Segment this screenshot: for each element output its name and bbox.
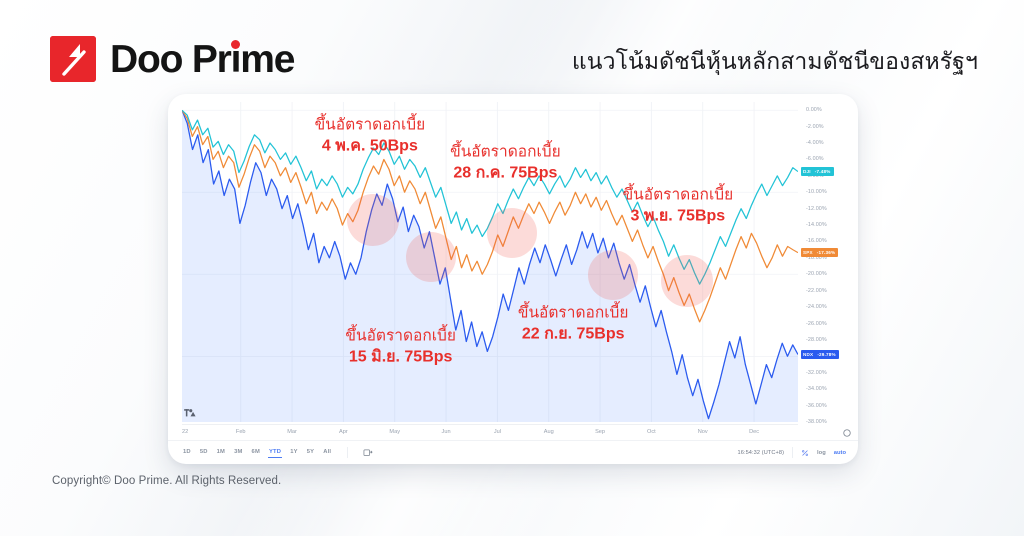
time-tick-label: Oct <box>647 429 656 435</box>
range-button-5y[interactable]: 5Y <box>306 448 316 457</box>
logo-accent-dot <box>231 40 240 49</box>
price-tick-label: -20.00% <box>806 271 827 277</box>
annotation-label: ขึ้นอัตราดอกเบี้ย <box>518 305 629 324</box>
rate-hike-annotation: ขึ้นอัตราดอกเบี้ย4 พ.ค. 50Bps <box>315 116 426 155</box>
price-tick-label: -4.00% <box>806 140 824 146</box>
tradingview-logo <box>184 408 197 418</box>
annotation-value: 3 พ.ย. 75Bps <box>623 206 734 226</box>
price-tick-label: -10.00% <box>806 189 827 195</box>
rate-hike-annotation: ขึ้นอัตราดอกเบี้ย22 ก.ย. 75Bps <box>518 305 629 344</box>
rate-hike-annotation: ขึ้นอัตราดอกเบี้ย3 พ.ย. 75Bps <box>623 186 734 225</box>
toolbar-divider-2 <box>792 447 793 458</box>
auto-scale-button[interactable]: auto <box>834 450 846 456</box>
time-tick-label: Aug <box>544 429 554 435</box>
annotation-label: ขึ้นอัตราดอกเบี้ย <box>623 186 734 205</box>
annotation-label: ขึ้นอัตราดอกเบี้ย <box>450 143 561 162</box>
time-scale[interactable]: 22FebMarAprMayJunJulAugSepOctNovDec <box>182 424 798 440</box>
brand-logo: Doo Prime <box>50 36 294 82</box>
annotation-label: ขึ้นอัตราดอกเบี้ย <box>315 116 426 135</box>
price-tick-label: -12.00% <box>806 206 827 212</box>
annotation-value: 15 มิ.ย. 75Bps <box>345 347 456 367</box>
time-tick-label: Sep <box>595 429 605 435</box>
badge-value: -17.36% <box>817 248 836 257</box>
badge-symbol: DJI <box>803 167 811 176</box>
badge-value: -29.78% <box>817 350 836 359</box>
chart-toolbar[interactable]: 1D5D1M3M6MYTD1Y5YAll 16:54:32 (UTC+8) lo… <box>168 440 858 464</box>
time-tick-label: Nov <box>698 429 708 435</box>
price-tick-label: -16.00% <box>806 238 827 244</box>
price-tick-label: -2.00% <box>806 124 824 130</box>
badge-symbol: NDX <box>803 350 813 359</box>
scale-badge-spx[interactable]: SPX-17.36% <box>801 248 838 257</box>
brand-name: Doo Prime <box>110 40 294 79</box>
price-tick-label: -34.00% <box>806 386 827 392</box>
rate-hike-annotation: ขึ้นอัตราดอกเบี้ย15 มิ.ย. 75Bps <box>345 327 456 366</box>
range-button-5d[interactable]: 5D <box>199 448 209 457</box>
range-button-1d[interactable]: 1D <box>182 448 192 457</box>
price-tick-label: -6.00% <box>806 156 824 162</box>
range-button-all[interactable]: All <box>322 448 332 457</box>
badge-symbol: SPX <box>803 248 813 257</box>
log-scale-button[interactable]: log <box>817 450 826 456</box>
doo-prime-flag-icon <box>50 36 96 82</box>
range-button-1y[interactable]: 1Y <box>289 448 299 457</box>
time-tick-label: Dec <box>749 429 759 435</box>
reset-scale-icon[interactable] <box>842 428 852 438</box>
range-selector-group[interactable]: 1D5D1M3M6MYTD1Y5YAll <box>182 447 373 458</box>
percent-scale-icon[interactable] <box>801 449 809 457</box>
annotation-value: 4 พ.ค. 50Bps <box>315 136 426 156</box>
scale-badge-dji[interactable]: DJI-7.48% <box>801 167 834 176</box>
price-tick-label: -38.00% <box>806 419 827 425</box>
price-tick-label: -36.00% <box>806 403 827 409</box>
chart-clock: 16:54:32 (UTC+8) <box>738 450 785 456</box>
time-tick-label: May <box>389 429 400 435</box>
time-tick-label: 22 <box>182 429 188 435</box>
price-tick-label: -24.00% <box>806 304 827 310</box>
price-scale[interactable]: 0.00%-2.00%-4.00%-6.00%-8.00%-10.00%-12.… <box>798 102 858 422</box>
price-tick-label: -28.00% <box>806 337 827 343</box>
rate-hike-annotation: ขึ้นอัตราดอกเบี้ย28 ก.ค. 75Bps <box>450 143 561 182</box>
range-button-ytd[interactable]: YTD <box>268 448 282 458</box>
price-tick-label: -26.00% <box>806 321 827 327</box>
range-button-1m[interactable]: 1M <box>216 448 226 457</box>
annotation-layer: ขึ้นอัตราดอกเบี้ย4 พ.ค. 50Bpsขึ้นอัตราดอ… <box>182 102 798 422</box>
chart-plot-area[interactable]: ขึ้นอัตราดอกเบี้ย4 พ.ค. 50Bpsขึ้นอัตราดอ… <box>182 102 798 422</box>
toolbar-right-group[interactable]: 16:54:32 (UTC+8) log auto <box>738 447 846 458</box>
time-tick-label: Jul <box>494 429 501 435</box>
scale-badge-ndx[interactable]: NDX-29.78% <box>801 350 839 359</box>
annotation-value: 28 ก.ค. 75Bps <box>450 163 561 183</box>
range-button-3m[interactable]: 3M <box>233 448 243 457</box>
time-tick-label: Jun <box>442 429 451 435</box>
badge-value: -7.48% <box>815 167 831 176</box>
tradingview-chart-card[interactable]: ขึ้นอัตราดอกเบี้ย4 พ.ค. 50Bpsขึ้นอัตราดอ… <box>168 94 858 464</box>
price-tick-label: -14.00% <box>806 222 827 228</box>
annotation-value: 22 ก.ย. 75Bps <box>518 325 629 345</box>
price-tick-label: -32.00% <box>806 370 827 376</box>
calendar-compare-icon[interactable] <box>363 448 373 458</box>
copyright-text: Copyright© Doo Prime. All Rights Reserve… <box>52 475 281 487</box>
time-tick-label: Mar <box>287 429 297 435</box>
price-tick-label: -22.00% <box>806 288 827 294</box>
page-title: แนวโน้มดัชนีหุ้นหลักสามดัชนีของสหรัฐฯ <box>572 44 978 80</box>
price-tick-label: 0.00% <box>806 107 822 113</box>
annotation-label: ขึ้นอัตราดอกเบี้ย <box>345 327 456 346</box>
time-tick-label: Apr <box>339 429 348 435</box>
range-button-6m[interactable]: 6M <box>251 448 261 457</box>
toolbar-divider <box>347 447 348 458</box>
time-tick-label: Feb <box>236 429 246 435</box>
